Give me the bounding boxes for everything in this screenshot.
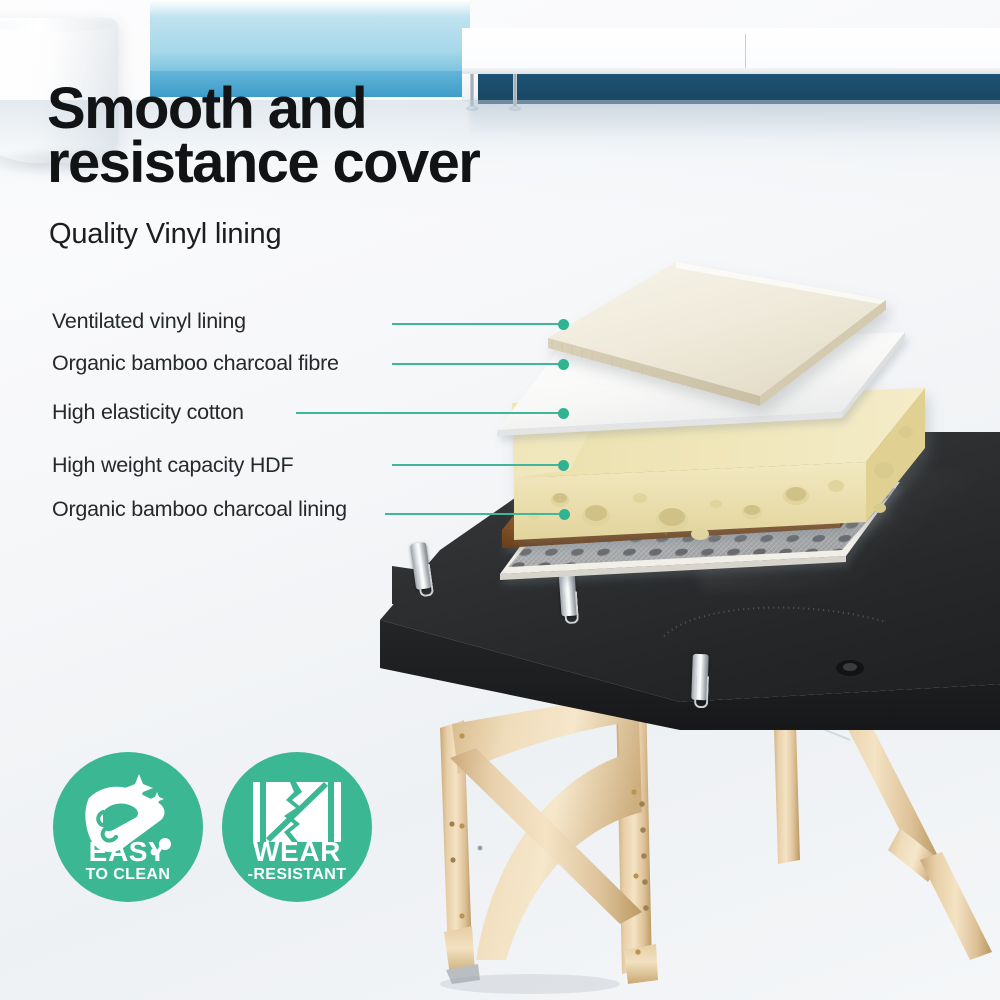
product-infographic: Smooth and resistance cover Quality Viny… (0, 0, 1000, 1000)
badge-wear-resistant: WEAR -RESISTANT (222, 752, 372, 902)
leader-line-charcoal-lining (385, 513, 565, 515)
table-latch[interactable] (558, 569, 577, 616)
badge-title: WEAR (222, 836, 372, 868)
table-highlight (700, 470, 1000, 590)
table-grommet (820, 648, 880, 688)
spec-label-charcoal-fibre: Organic bamboo charcoal fibre (52, 351, 339, 376)
spec-label-elasticity-cotton: High elasticity cotton (52, 400, 244, 425)
badge-easy-to-clean: EASY TO CLEAN (53, 752, 203, 902)
torn-fabric-icon (253, 782, 341, 842)
leader-line-hdf (392, 464, 564, 466)
badge-subtitle: TO CLEAN (53, 866, 203, 884)
leader-line-charcoal-fibre (392, 363, 564, 365)
spec-label-charcoal-lining: Organic bamboo charcoal lining (52, 497, 347, 522)
headline: Smooth and resistance cover (47, 82, 567, 190)
subtitle: Quality Vinyl lining (49, 218, 281, 251)
spec-label-vinyl-lining: Ventilated vinyl lining (52, 309, 246, 334)
spec-label-hdf: High weight capacity HDF (52, 453, 293, 478)
headline-line-1: Smooth and (47, 82, 567, 136)
leader-line-elasticity-cotton (296, 412, 564, 414)
badge-title: EASY (53, 836, 203, 868)
badge-subtitle: -RESISTANT (222, 866, 372, 884)
headline-line-2: resistance cover (47, 136, 567, 190)
leader-line-vinyl-lining (392, 323, 564, 325)
table-latch[interactable] (691, 654, 709, 701)
